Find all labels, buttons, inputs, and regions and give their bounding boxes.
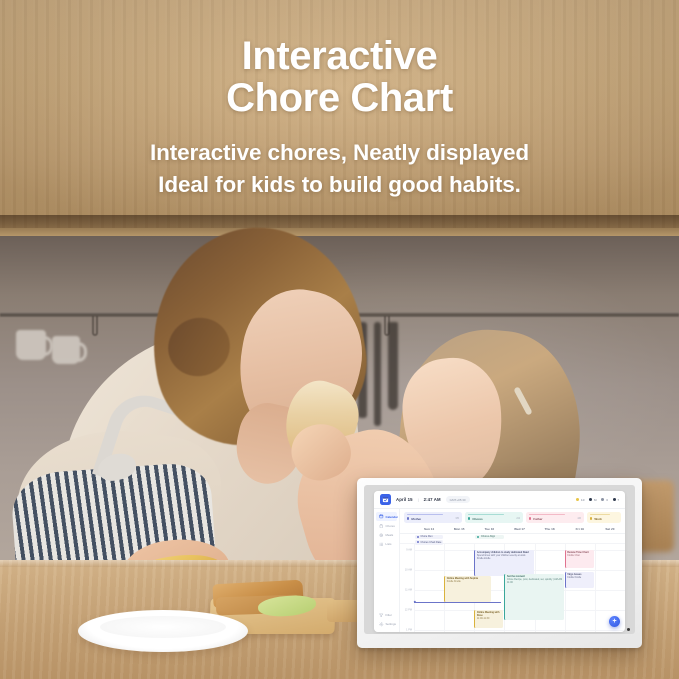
page-title: Interactive Chore Chart <box>0 36 679 119</box>
sidebar-item-label: Chores <box>386 524 395 528</box>
day-columns[interactable]: Accompany children to study dedicated Re… <box>414 544 625 632</box>
badge-label: 10 <box>581 498 584 502</box>
filter-pill-label: Father <box>533 517 542 521</box>
sidebar-item-calendar[interactable]: Calendar <box>376 512 397 521</box>
add-event-button[interactable]: + <box>609 616 620 627</box>
smart-display-device[interactable]: April 15 | 2:47 AM GMT+05:30 10 M <box>357 478 642 648</box>
time-axis: 9 AM 10 AM 11 AM 12 PM 1 PM <box>400 544 414 632</box>
pill-accent-bar <box>468 514 504 515</box>
badge-label: M <box>594 498 597 502</box>
sidebar-item-meals[interactable]: Meals <box>376 531 397 540</box>
pill-accent-bar <box>590 514 610 515</box>
filter-pill-mother[interactable]: Mother 3/5 <box>404 512 462 523</box>
dot-icon <box>613 498 616 501</box>
event-subtitle: Kindle Kindle <box>447 580 490 583</box>
filter-pill-work[interactable]: Work <box>587 512 621 523</box>
sidebar-item-label: Settings <box>386 622 396 626</box>
filter-pill-count: 4/6 <box>577 517 581 520</box>
calendar-icon <box>379 514 384 519</box>
status-badge[interactable]: M <box>589 498 596 502</box>
hanging-mug <box>52 336 80 364</box>
dot-icon <box>590 517 592 519</box>
all-day-cell[interactable] <box>565 534 595 543</box>
current-time-line <box>414 602 501 603</box>
subtitle-line-1: Interactive chores, Neatly displayed <box>0 137 679 169</box>
sidebar-item-filter[interactable]: Filter <box>376 610 397 619</box>
topbar-date: April 15 <box>396 497 413 502</box>
filter-pill-chores[interactable]: Chores 2/4 <box>465 512 523 523</box>
rail-hook-icon <box>92 316 98 336</box>
all-day-cell[interactable] <box>595 534 625 543</box>
sidebar-item-settings[interactable]: Settings <box>376 620 397 629</box>
page-subtitle: Interactive chores, Neatly displayed Ide… <box>0 137 679 201</box>
dot-icon <box>477 536 479 538</box>
dot-icon <box>417 536 419 538</box>
pill-content: Chores 2/4 <box>468 517 520 521</box>
camera-dot-icon <box>627 628 630 631</box>
timezone-selector[interactable]: GMT+05:30 <box>446 496 470 503</box>
event-subtitle: Chore Recipe, post, dedicated, set, quic… <box>507 578 562 584</box>
all-day-cell[interactable]: Chores Align <box>474 534 504 543</box>
white-plate <box>78 610 248 652</box>
dot-icon <box>601 498 604 501</box>
title-line-1: Interactive <box>0 36 679 78</box>
all-day-chip[interactable]: Chores Align <box>475 535 503 540</box>
day-header-cell[interactable]: Wed 17 <box>504 527 534 531</box>
dot-icon <box>529 517 531 519</box>
calendar-event[interactable]: Set the moment Chore Recipe, post, dedic… <box>504 574 564 620</box>
topbar-time: 2:47 AM <box>424 497 441 502</box>
all-day-cell[interactable] <box>505 534 535 543</box>
calendar-event[interactable]: Virgo Issues Kindle Kindle <box>565 572 594 588</box>
dot-icon <box>589 498 592 501</box>
event-subtitle: Kindle Kindle <box>567 576 592 579</box>
badge-label: 3 <box>606 498 608 502</box>
calendar-main: Mother 3/5 Chores 2/4 <box>400 509 625 632</box>
event-subtitle: 11:00-11:30 <box>477 617 502 620</box>
filter-pill-count: 2/4 <box>516 517 520 520</box>
title-line-2: Chore Chart <box>0 78 679 120</box>
hanging-utensil <box>374 322 381 426</box>
event-subtitle: Kindle Chat <box>567 554 592 557</box>
dot-icon <box>468 517 470 519</box>
sidebar-item-chores[interactable]: Chores <box>376 521 397 530</box>
day-header-cell[interactable]: Thu 18 <box>535 527 565 531</box>
filter-icon <box>379 613 384 618</box>
event-subtitle: Spend times with your children evenly at… <box>477 554 532 560</box>
headline-block: Interactive Chore Chart Interactive chor… <box>0 36 679 201</box>
calendar-app[interactable]: April 15 | 2:47 AM GMT+05:30 10 M <box>374 491 625 632</box>
status-badge[interactable]: 7 <box>613 498 619 502</box>
calendar-event[interactable]: Accompany children to study dedicated Re… <box>474 550 534 576</box>
pill-accent-bar <box>529 514 565 515</box>
calendar-event[interactable]: Review Time Chart Kindle Chat <box>565 550 594 568</box>
topbar-separator: | <box>418 497 419 502</box>
time-label: 10 AM <box>405 568 412 571</box>
sidebar-item-label: Lists <box>386 542 392 546</box>
time-label: 9 AM <box>406 548 412 551</box>
dot-icon <box>576 498 579 501</box>
plus-icon: + <box>612 618 616 625</box>
status-badge[interactable]: 3 <box>601 498 607 502</box>
day-header-cell[interactable]: Mon 15 <box>444 527 474 531</box>
filter-pill-father[interactable]: Father 4/6 <box>526 512 584 523</box>
calendar-grid[interactable]: 9 AM 10 AM 11 AM 12 PM 1 PM <box>400 544 625 632</box>
day-header-cell[interactable]: Sun 14 <box>414 527 444 531</box>
day-header-row: Sun 14 Mon 15 Tue 16 Wed 17 Thu 18 Fri 1… <box>400 525 625 534</box>
calendar-check-icon[interactable] <box>380 494 391 505</box>
hanging-utensil <box>388 322 398 410</box>
all-day-cell[interactable] <box>535 534 565 543</box>
clipboard-icon <box>379 524 384 529</box>
all-day-cell[interactable]: Chore Run Chores Chart Date <box>414 534 444 543</box>
status-badge[interactable]: 10 <box>576 498 584 502</box>
time-label: 12 PM <box>405 608 412 611</box>
day-column[interactable] <box>414 544 444 632</box>
filter-pill-label: Work <box>594 517 601 521</box>
sidebar-item-label: Meals <box>386 533 394 537</box>
hour-gridline <box>414 630 625 631</box>
subtitle-line-2: Ideal for kids to build good habits. <box>0 169 679 201</box>
dot-icon <box>407 517 409 519</box>
sidebar-item-label: Filter <box>386 613 392 617</box>
topbar-badges: 10 M 3 7 <box>576 498 619 502</box>
day-header-cell[interactable]: Tue 16 <box>474 527 504 531</box>
all-day-chip-label: Chores Align <box>481 535 495 538</box>
plate-icon <box>379 533 384 538</box>
calendar-event[interactable]: Online Meeting with Sophia Kindle Kindle <box>444 576 491 602</box>
app-sidebar: Calendar Chores Meals <box>374 509 400 632</box>
pill-content: Mother 3/5 <box>407 517 459 521</box>
filter-pill-label: Chores <box>472 517 482 521</box>
hanging-mug <box>16 330 46 360</box>
list-icon <box>379 542 384 547</box>
calendar-event[interactable]: Online Meeting with Rose 11:00-11:30 <box>474 610 503 628</box>
time-label: 11 AM <box>405 588 412 591</box>
pill-accent-bar <box>407 514 443 515</box>
pill-content: Father 4/6 <box>529 517 581 521</box>
time-label: 1 PM <box>406 628 412 631</box>
all-day-cell[interactable] <box>444 534 474 543</box>
pill-content: Work <box>590 517 618 521</box>
all-day-chip[interactable]: Chore Run <box>415 535 443 540</box>
sidebar-item-lists[interactable]: Lists <box>376 540 397 549</box>
app-body: Calendar Chores Meals <box>374 509 625 632</box>
day-header-cell[interactable]: Sat 20 <box>595 527 625 531</box>
filter-pill-count: 3/5 <box>455 517 459 520</box>
device-bezel: April 15 | 2:47 AM GMT+05:30 10 M <box>364 485 635 634</box>
day-header-cell[interactable]: Fri 19 <box>565 527 595 531</box>
filter-pill-label: Mother <box>411 517 421 521</box>
all-day-row: Chore Run Chores Chart Date <box>400 534 625 544</box>
gear-icon <box>379 622 384 627</box>
app-topbar: April 15 | 2:47 AM GMT+05:30 10 M <box>374 491 625 509</box>
sidebar-item-label: Calendar <box>386 515 398 519</box>
badge-label: 7 <box>617 498 619 502</box>
all-day-chip-label: Chore Run <box>421 535 433 538</box>
filter-pill-row: Mother 3/5 Chores 2/4 <box>400 509 625 525</box>
sidebar-spacer <box>374 549 399 610</box>
